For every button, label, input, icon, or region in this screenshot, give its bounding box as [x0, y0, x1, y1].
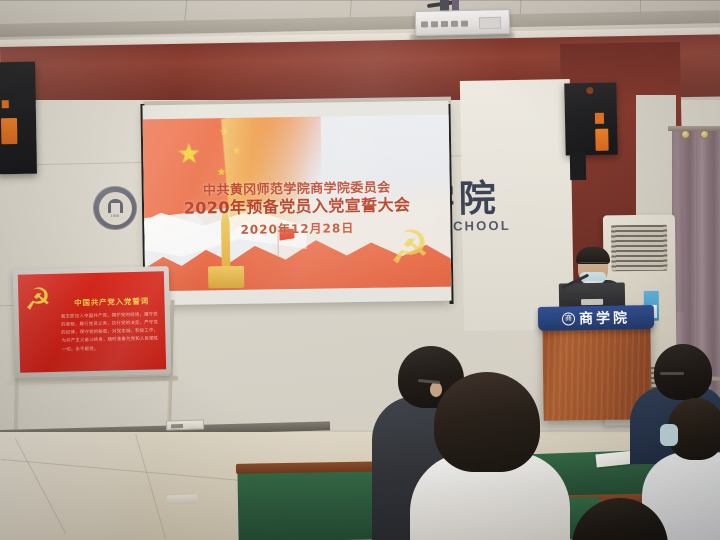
podium-emblem-icon: 商 — [562, 312, 575, 325]
podium-sign: 商 商学院 — [538, 305, 654, 331]
audience-member-4-mask — [660, 424, 678, 446]
lecture-hall-photo: 1905 学院 SCHOOL ★ ★ ★ ★ ☭ 中共黄冈师范学院商学院委员会 — [0, 0, 720, 540]
audience-member-2-head — [434, 372, 540, 472]
oath-banner: ☭ 中国共产党入党誓词 我志愿加入中国共产党，拥护党的纲领，遵守党的章程，履行党… — [18, 271, 166, 373]
speaker-label-left-2 — [1, 118, 17, 144]
banner-frame: ☭ 中国共产党入党誓词 我志愿加入中国共产党，拥护党的纲领，遵守党的章程，履行党… — [13, 266, 172, 378]
banner-glare — [18, 271, 166, 373]
presentation-slide: ★ ★ ★ ★ ☭ 中共黄冈师范学院商学院委员会 2020年预备党员入党宣誓大会… — [143, 115, 452, 292]
speaker-label-right-2 — [595, 129, 608, 151]
right-speaker-bracket — [570, 152, 586, 180]
left-wall-speaker — [0, 62, 37, 175]
speaker-label-left-1 — [2, 100, 9, 108]
slide-date: 2020年12月28日 — [144, 218, 450, 240]
university-emblem: 1905 — [93, 186, 137, 230]
floor-outlet[interactable] — [167, 494, 197, 504]
slide-title-line: 2020年预备党员入党宣誓大会 — [144, 190, 450, 219]
oath-banner-board: ☭ 中国共产党入党誓词 我志愿加入中国共产党，拥护党的纲领，遵守党的章程，履行党… — [13, 266, 172, 378]
curtain-grommet-2 — [700, 130, 709, 139]
projection-screen: ★ ★ ★ ★ ☭ 中共黄冈师范学院商学院委员会 2020年预备党员入党宣誓大会… — [142, 101, 451, 306]
projector-ports — [421, 18, 473, 29]
speaker-glasses — [579, 262, 607, 268]
projector-lens — [479, 17, 501, 29]
audience-member-3-glasses — [660, 372, 684, 375]
speaker-badge-right — [586, 87, 593, 94]
wall-outlet[interactable] — [166, 420, 204, 431]
curtain-rod — [668, 126, 720, 131]
emblem-gate-icon — [108, 199, 123, 213]
right-wall-speaker — [564, 82, 617, 155]
audience-member-1-ear — [430, 382, 442, 397]
podium-sign-text: 商学院 — [579, 307, 630, 328]
speaker-label-right-1 — [595, 113, 604, 124]
curtain-grommet-1 — [681, 130, 690, 139]
